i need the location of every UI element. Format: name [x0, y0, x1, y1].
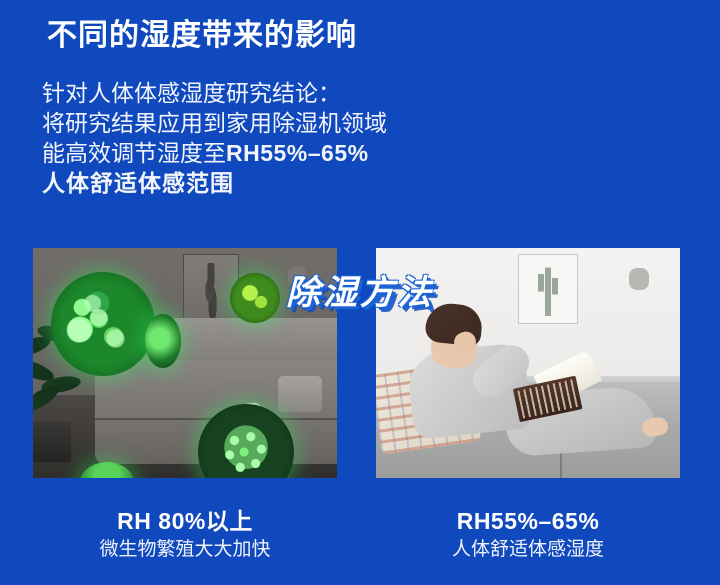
promo-poster: 不同的湿度带来的影响 针对人体体感湿度研究结论： 将研究结果应用到家用除湿机领域… [0, 0, 720, 585]
caption-left-title: RH 80%以上 [33, 506, 337, 536]
caption-right-title: RH55%–65% [376, 506, 680, 536]
caption-right-subtitle: 人体舒适体感湿度 [376, 536, 680, 564]
wall-knob-icon [629, 268, 649, 290]
cactus-art-frame-icon [518, 254, 578, 324]
body-line-3: 能高效调节湿度至RH55%–65% [42, 138, 387, 168]
caption-left: RH 80%以上 微生物繁殖大大加快 [33, 506, 337, 564]
body-line-3-prefix: 能高效调节湿度至 [42, 140, 226, 166]
microbe-cluster-icon [230, 273, 280, 323]
microbe-cluster-icon [145, 314, 181, 368]
body-line-2: 将研究结果应用到家用除湿机领域 [42, 108, 387, 138]
microbe-cluster-icon [51, 272, 155, 376]
caption-left-subtitle: 微生物繁殖大大加快 [33, 536, 337, 564]
sofa-cushion [278, 376, 322, 412]
body-line-3-highlight: RH55%–65% [226, 140, 369, 166]
woman-reading [398, 340, 648, 460]
plant-pot [33, 422, 71, 462]
page-title: 不同的湿度带来的影响 [47, 17, 357, 55]
watermark-text: 除湿方法 [286, 265, 434, 314]
body-line-4: 人体舒适体感范围 [42, 168, 387, 198]
plant-leaf [33, 382, 62, 416]
caption-right: RH55%–65% 人体舒适体感湿度 [376, 506, 680, 564]
body-copy: 针对人体体感湿度研究结论： 将研究结果应用到家用除湿机领域 能高效调节湿度至RH… [42, 78, 387, 198]
body-line-1: 针对人体体感湿度研究结论： [42, 78, 387, 108]
